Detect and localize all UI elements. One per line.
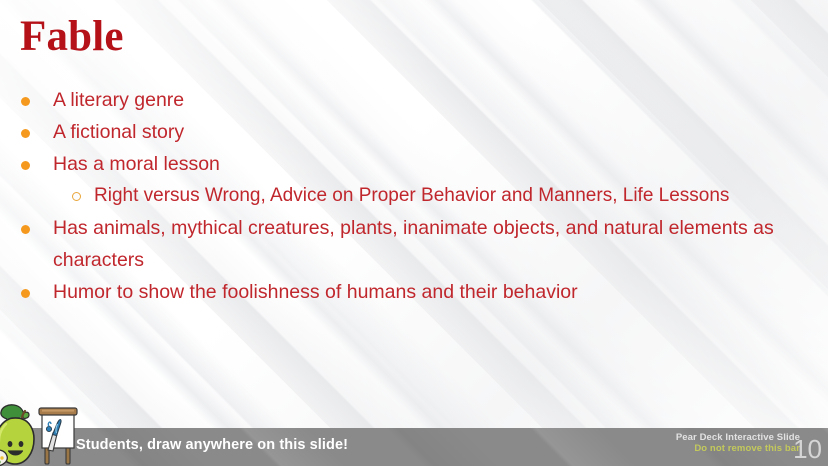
eye-left [8, 441, 13, 447]
bullet-list: A literary genre A fictional story Has a… [12, 84, 828, 308]
slide-number: 10 [793, 436, 822, 462]
bullet-text: A literary genre [53, 89, 184, 111]
slide-title: Fable [20, 14, 124, 59]
bullet-dot-icon [21, 97, 30, 106]
easel-icon [39, 408, 77, 464]
pear-deck-branding: Pear Deck Interactive Slide Do not remov… [676, 432, 800, 454]
bullet-item: Has a moral lesson [12, 148, 828, 180]
sub-bullet-item: Right versus Wrong, Advice on Proper Beh… [12, 180, 828, 212]
brand-warning-text: Do not remove this bar [676, 443, 800, 454]
bullet-text: Has a moral lesson [53, 153, 220, 175]
bullet-item: Has animals, mythical creatures, plants,… [12, 212, 828, 276]
pear-deck-bar: Students, draw anywhere on this slide! P… [0, 428, 828, 466]
bullet-text: Humor to show the foolishness of humans … [53, 281, 578, 303]
bullet-item: Humor to show the foolishness of humans … [12, 276, 828, 308]
bullet-text: A fictional story [53, 121, 184, 143]
brand-title-text: Pear Deck Interactive Slide [676, 432, 800, 443]
bullet-dot-icon [21, 289, 30, 298]
presentation-slide: Fable A literary genre A fictional story… [0, 0, 828, 466]
bullet-dot-icon [21, 225, 30, 234]
bullet-item: A fictional story [12, 116, 828, 148]
bullet-text: Has animals, mythical creatures, plants,… [53, 217, 774, 271]
bullet-dot-icon [21, 161, 30, 170]
bar-prompt-text: Students, draw anywhere on this slide! [76, 437, 348, 453]
bullet-dot-icon [21, 129, 30, 138]
pear-mascot-icon [0, 400, 84, 466]
eye-right [19, 441, 24, 447]
bullet-ring-icon [72, 192, 81, 201]
bullet-item: A literary genre [12, 84, 828, 116]
sub-bullet-text: Right versus Wrong, Advice on Proper Beh… [94, 185, 729, 206]
